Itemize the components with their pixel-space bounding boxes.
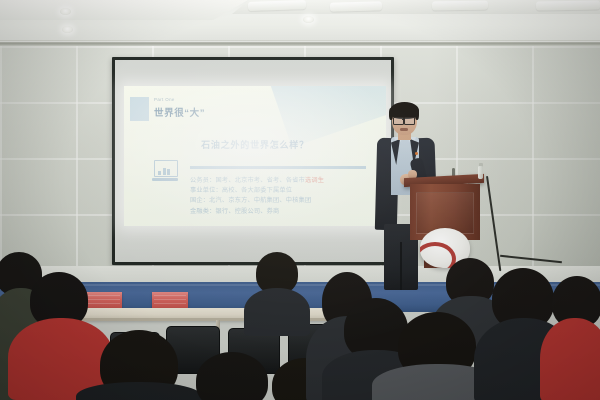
screen-surface: Part One 世界很“大” 石油之外的世界怎么样？ 公务员：国考、北京市考、…	[115, 60, 391, 262]
slide-bullet: 事业单位：高校、各大部委下属单位	[190, 186, 376, 196]
tube-light	[536, 0, 600, 10]
water-bottle	[478, 166, 483, 179]
slide-header-tag	[130, 97, 149, 121]
name-tent	[86, 292, 122, 309]
lapel-pin	[415, 152, 418, 155]
projection-screen: Part One 世界很“大” 石油之外的世界怎么样？ 公务员：国考、北京市考、…	[112, 57, 394, 265]
mouth	[400, 128, 408, 131]
downlight	[303, 16, 314, 23]
slide-header-text: 世界很“大”	[154, 105, 205, 119]
slide-title: 石油之外的世界怎么样？	[124, 138, 386, 151]
slide-bullet-list: 公务员：国考、北京市考、省考、各省市选调生 事业单位：高校、各大部委下属单位 国…	[190, 176, 376, 217]
slide-bullet: 金融类：银行、控股公司、券商	[190, 207, 376, 217]
tube-light	[330, 1, 382, 11]
ceiling-recess-left	[0, 0, 248, 20]
curtain-rail-highlight	[0, 41, 600, 42]
audience-body	[540, 318, 600, 400]
name-tent	[152, 292, 188, 309]
glasses-lens-right	[404, 117, 415, 125]
presentation-slide: Part One 世界很“大” 石油之外的世界怎么样？ 公务员：国考、北京市考、…	[124, 86, 386, 226]
laptop-chart-icon	[152, 160, 178, 181]
downlight	[62, 26, 73, 33]
trouser-seam	[400, 242, 402, 290]
slide-divider	[190, 166, 366, 169]
slide-part-label: Part One	[154, 97, 175, 102]
audience-body	[244, 288, 310, 336]
downlight	[60, 8, 71, 15]
lecture-hall-photo: Part One 世界很“大” 石油之外的世界怎么样？ 公务员：国考、北京市考、…	[0, 0, 600, 400]
slide-bullet: 公务员：国考、北京市考、省考、各省市选调生	[190, 176, 376, 186]
hair-side-right	[415, 108, 419, 120]
tube-light	[432, 1, 488, 11]
wall-shading-left	[0, 46, 120, 286]
slide-bullet: 国企：北汽、京东方、中航集团、中核集团	[190, 196, 376, 206]
glasses-bridge	[402, 119, 405, 120]
bullet-text: 公务员：国考、北京市考、省考、各省市	[190, 177, 305, 184]
bullet-highlight: 选调生	[305, 177, 324, 184]
bag-red-stripe	[420, 242, 456, 268]
